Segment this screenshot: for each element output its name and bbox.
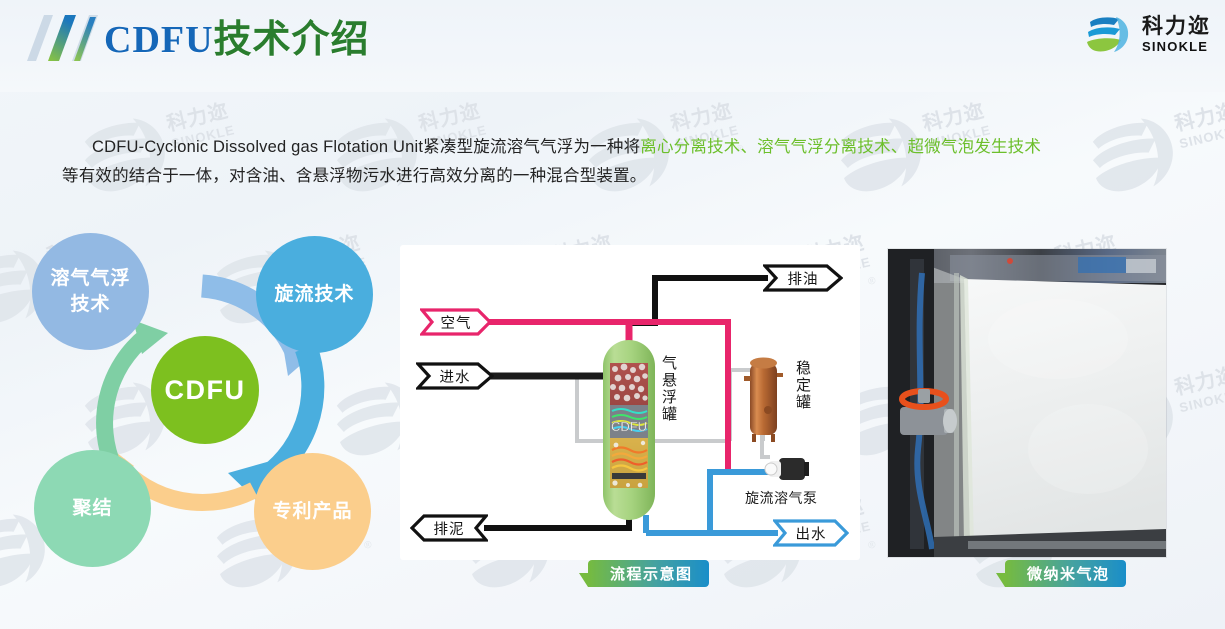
slide-header: CDFU技术介绍 科力迩 SINOKLE [0,0,1225,92]
svg-text:科力迩: 科力迩 [164,98,231,136]
cycle-node-label: 专利产品 [272,499,352,525]
svg-text:®: ® [867,275,877,288]
intro-paragraph: CDFU-Cyclonic Dissolved gas Flotation Un… [62,133,1167,191]
svg-text:SINOKLE: SINOKLE [1178,386,1225,415]
page-title-cn: 技术介绍 [214,19,370,61]
svg-text:科力迩: 科力迩 [1172,362,1225,400]
svg-text:科力迩: 科力迩 [920,98,987,136]
cycle-node-cyclone-technology[interactable]: 旋流技术 [256,236,373,353]
cycle-node-coalescence[interactable]: 聚结 [34,450,151,567]
corp-name-cn: 科力迩 [1142,16,1211,37]
photo-caption-text: 微纳米气泡 [1027,563,1110,584]
photo-content [888,249,1166,557]
page-title-en: CDFU [104,19,214,61]
pump-label: 旋流溶气泵 [745,488,818,508]
slide-canvas: 科力迩SINOKLE®科力迩SINOKLE®科力迩SINOKLE®科力迩SINO… [0,0,1225,629]
intro-part1: CDFU-Cyclonic Dissolved gas Flotation Un… [92,138,640,156]
cycle-node-label: 旋流技术 [274,282,354,308]
flow-caption-ribbon: 流程示意图 [588,560,709,587]
corp-name-en: SINOKLE [1142,40,1211,53]
svg-text:®: ® [867,539,877,552]
cycle-center-cdfu: CDFU [151,336,259,444]
sinokle-bars-icon [24,9,102,65]
cycle-center-label: CDFU [165,377,246,403]
svg-text:CDFU: CDFU [611,419,647,434]
water-outlet-tag: 出水 [773,518,849,548]
svg-text:科力迩: 科力迩 [416,98,483,136]
oil-discharge-tag: 排油 [763,263,843,293]
cycle-node-label: 聚结 [72,496,112,522]
process-flow-diagram: CDFU 空气 进水 [400,245,860,560]
svg-text:SINOKLE: SINOKLE [1178,122,1225,151]
cycle-node-dissolved-air-flotation[interactable]: 溶气气浮技术 [32,233,149,350]
stabilizer-tank-label: 稳定罐 [792,360,813,411]
cycle-diagram: 溶气气浮技术 旋流技术 聚结 专利产品 CDFU [6,228,406,578]
photo-caption-ribbon: 微纳米气泡 [1005,560,1126,587]
corporate-logo: 科力迩 SINOKLE [1084,12,1211,56]
flow-caption-text: 流程示意图 [610,563,693,584]
air-inlet-tag: 空气 [420,307,492,337]
micro-nano-bubble-tank-photo [888,249,1166,557]
page-title: CDFU技术介绍 [104,8,370,63]
svg-text:科力迩: 科力迩 [1172,98,1225,136]
water-inlet-tag: 进水 [416,361,494,391]
sludge-discharge-tag: 排泥 [410,513,488,543]
svg-text:科力迩: 科力迩 [668,98,735,136]
vessel-side-label: 气悬浮罐 [658,355,679,423]
sinokle-leaf-icon [1084,12,1134,56]
intro-highlight: 离心分离技术、溶气气浮分离技术、超微气泡发生技术 [640,138,1041,156]
intro-part2: 等有效的结合于一体，对含油、含悬浮物污水进行高效分离的一种混合型装置。 [62,167,647,185]
cycle-node-label: 溶气气浮技术 [50,266,130,318]
cycle-node-patented-product[interactable]: 专利产品 [254,453,371,570]
